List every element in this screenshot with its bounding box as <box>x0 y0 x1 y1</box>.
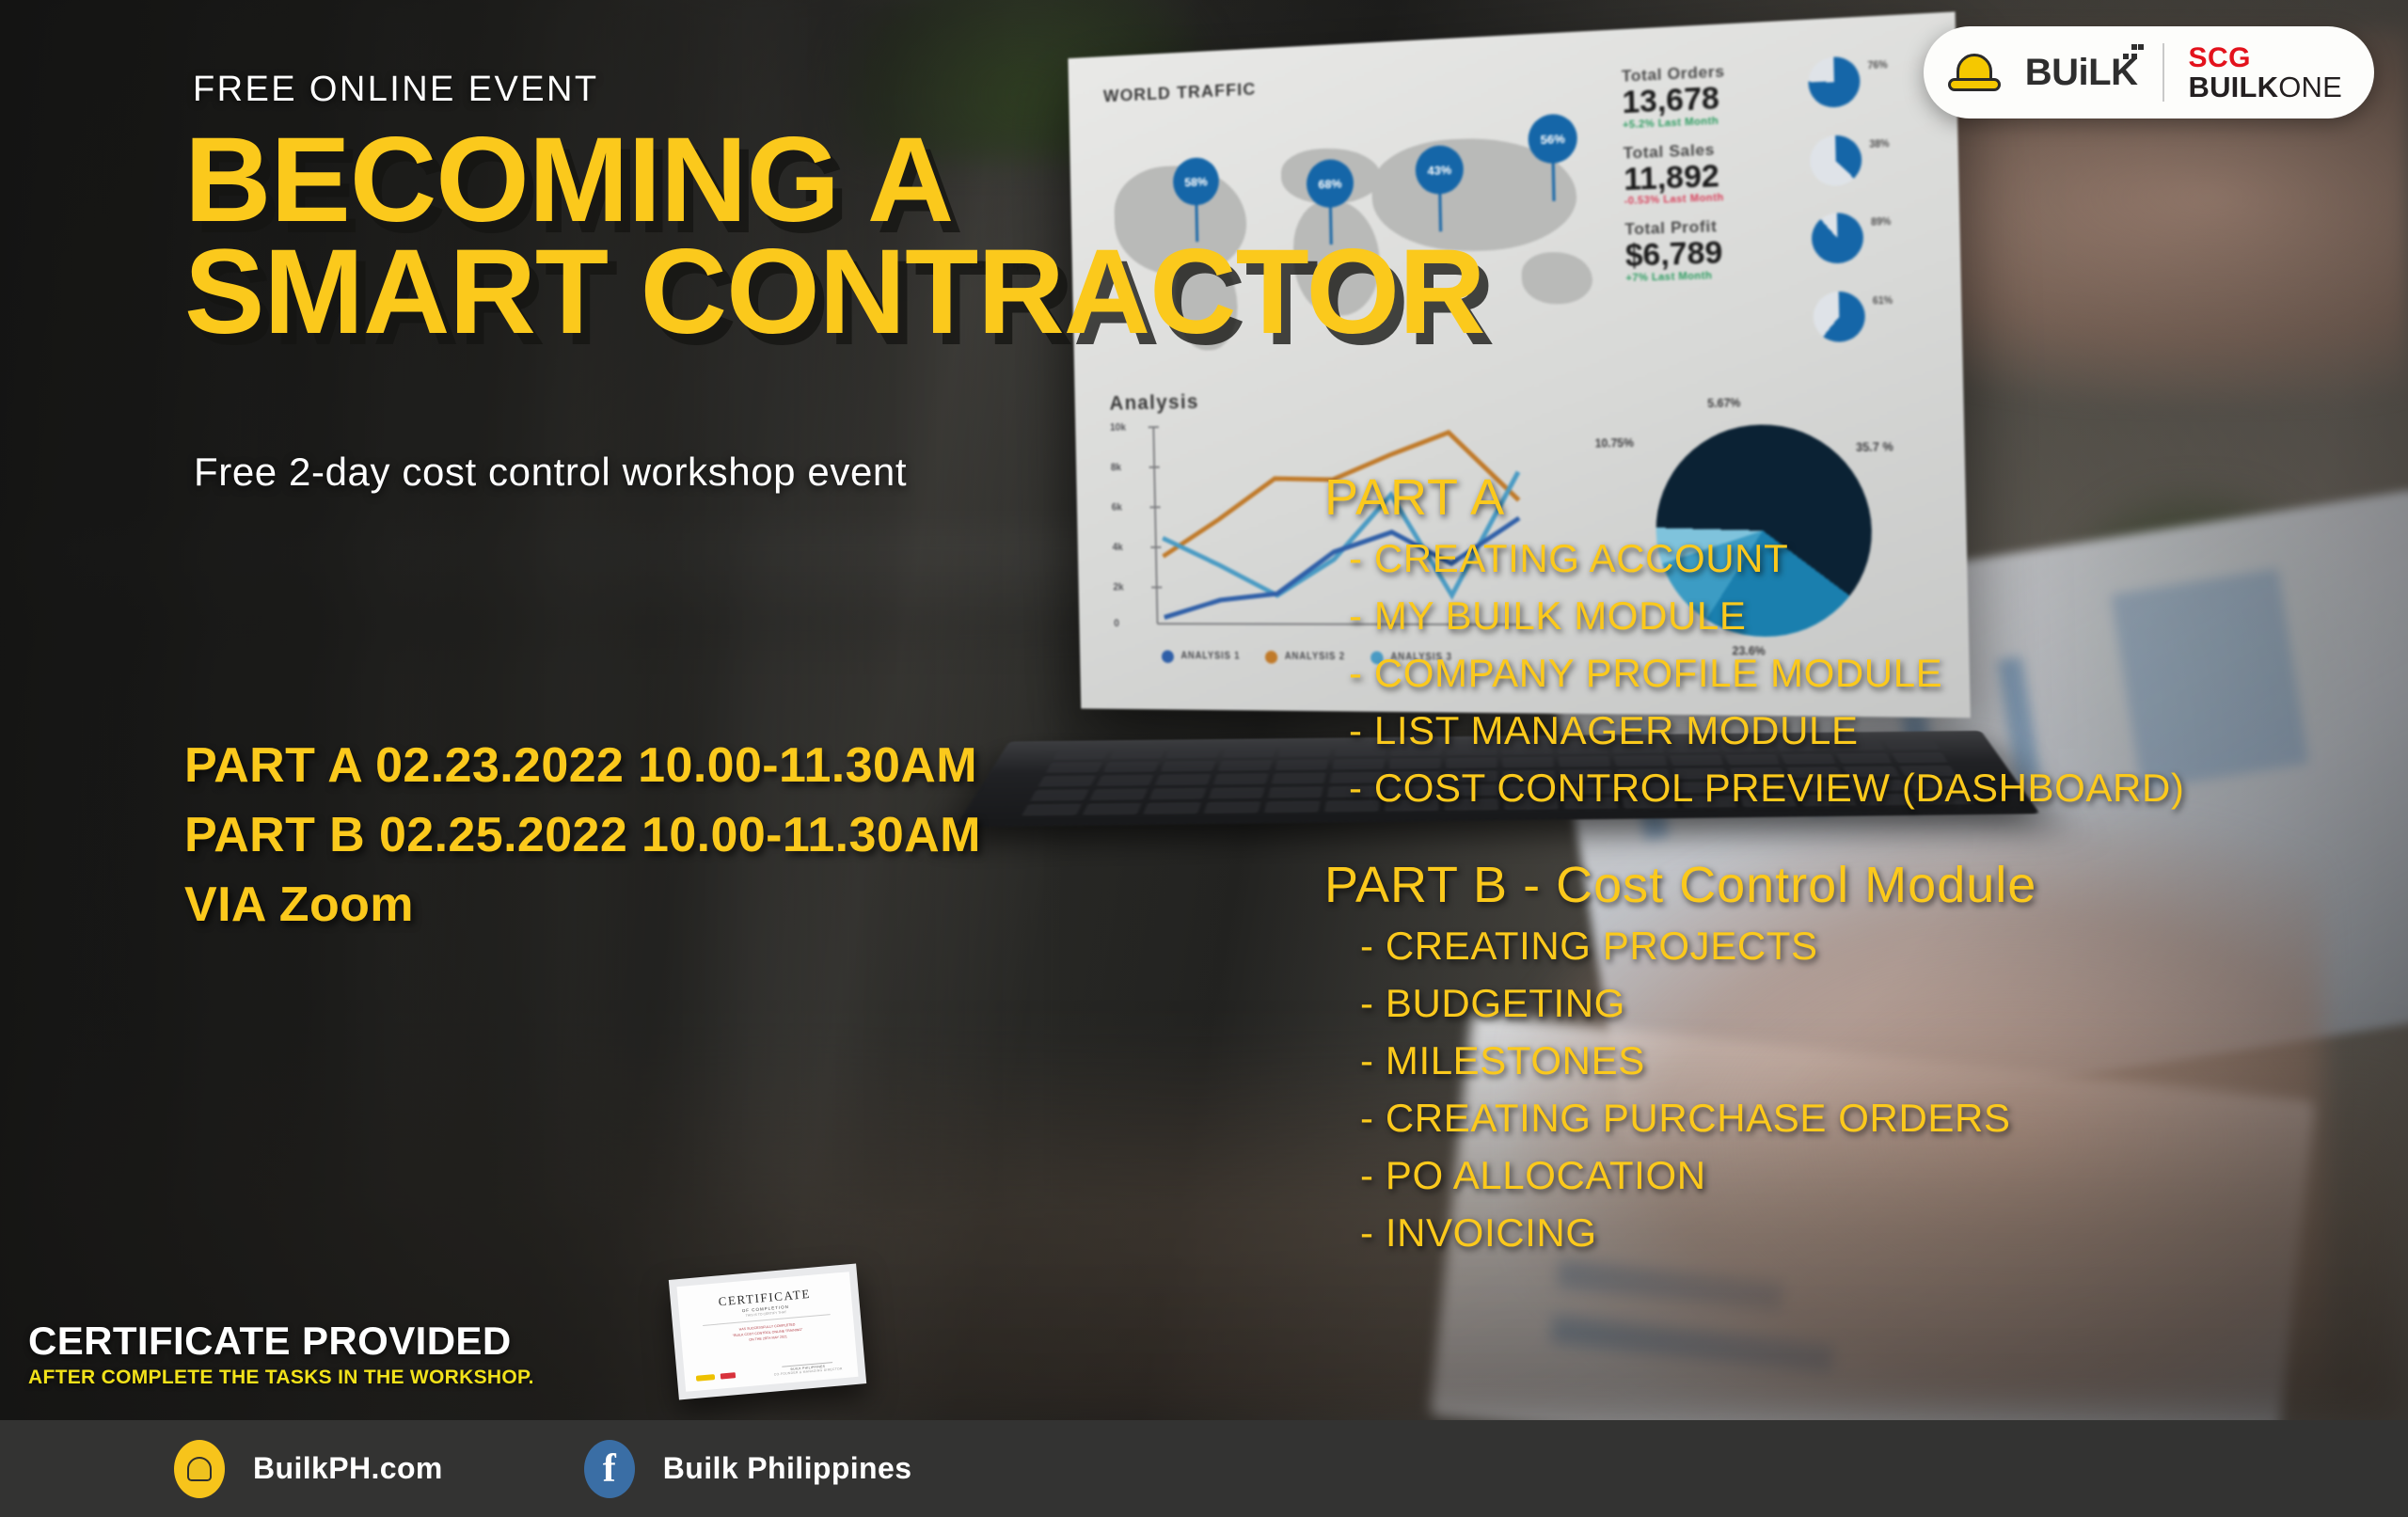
scg-label: SCG <box>2189 44 2343 72</box>
footer-facebook-label[interactable]: Builk Philippines <box>663 1451 912 1486</box>
agenda-item: - MY BUILK MODULE <box>1324 588 2397 645</box>
footer-website-item[interactable]: BuilkPH.com <box>174 1440 443 1498</box>
agenda-part-a-list: - CREATING ACCOUNT - MY BUILK MODULE - C… <box>1324 530 2397 816</box>
donut-percent: 76% <box>1867 55 1888 106</box>
donut-percent: 61% <box>1873 290 1893 340</box>
footer-facebook-item[interactable]: f Builk Philippines <box>584 1440 912 1498</box>
schedule-line-platform: VIA Zoom <box>184 871 981 940</box>
agenda-part-a: PART A - CREATING ACCOUNT - MY BUILK MOD… <box>1324 468 2397 816</box>
certificate-signature: BUILK PHILIPPINES CO-FOUNDER & MANAGING … <box>773 1361 843 1377</box>
certificate-provided-headline: CERTIFICATE PROVIDED <box>28 1319 534 1364</box>
certificate-provided-subline: AFTER COMPLETE THE TASKS IN THE WORKSHOP… <box>28 1367 534 1389</box>
agenda-part-b-list: - CREATING PROJECTS - BUDGETING - MILEST… <box>1324 918 2397 1261</box>
agenda-item: - MILESTONES <box>1324 1033 2397 1090</box>
agenda-part-a-heading: PART A <box>1324 468 2397 527</box>
footer-website-label[interactable]: BuilkPH.com <box>253 1451 443 1486</box>
title-line-2: SMART CONTRACTOR <box>184 236 1484 348</box>
kpi-text: Total Profit $6,789 +7% Last Month <box>1624 214 1791 284</box>
donut-chart <box>1813 291 1865 342</box>
world-traffic-title: WORLD TRAFFIC <box>1103 62 1612 107</box>
event-poster: WORLD TRAFFIC 58% 68% 43% 56% <box>0 0 2408 1517</box>
builk-hat-icon <box>174 1440 225 1498</box>
hard-hat-icon <box>1948 54 2001 91</box>
agenda-item: - PO ALLOCATION <box>1324 1147 2397 1205</box>
kpi-text: Total Orders 13,678 +5.2% Last Month <box>1622 59 1788 131</box>
kpi-value: $6,789 <box>1625 234 1791 273</box>
agenda-item: - COMPANY PROFILE MODULE <box>1324 645 2397 703</box>
builk-wordmark: BUiLK <box>2025 52 2138 94</box>
pie-label: 10.75% <box>1595 436 1635 450</box>
agenda-item: - CREATING PURCHASE ORDERS <box>1324 1090 2397 1147</box>
legend-item: ANALYSIS 1 <box>1162 650 1241 663</box>
agenda-item: - COST CONTROL PREVIEW (DASHBOARD) <box>1324 760 2397 817</box>
kpi-row: Total Sales 11,892 -0.53% Last Month 38% <box>1623 132 1918 208</box>
y-tick-label: 6k <box>1112 502 1123 514</box>
builkone-label: BUILKONE <box>2189 72 2343 102</box>
legend-label: ANALYSIS 1 <box>1180 652 1240 662</box>
page-title: BECOMING A SMART CONTRACTOR <box>184 124 1484 348</box>
kpi-row: Total Profit $6,789 +7% Last Month 89% <box>1624 211 1920 284</box>
agenda-item: - INVOICING <box>1324 1205 2397 1262</box>
subtitle-text: Free 2-day cost control workshop event <box>194 450 907 495</box>
legend-dot-icon <box>1162 650 1174 663</box>
donut-chart <box>1808 55 1861 108</box>
agenda-item: - BUDGETING <box>1324 975 2397 1033</box>
certificate-scg-logo-icon <box>721 1372 736 1379</box>
legend-dot-icon <box>1265 651 1278 664</box>
y-tick-label: 0 <box>1114 618 1119 629</box>
donut-chart <box>1810 134 1862 186</box>
footer-bar: BuilkPH.com f Builk Philippines <box>0 1420 2408 1517</box>
schedule-line-part-b: PART B 02.25.2022 10.00-11.30AM <box>184 801 981 871</box>
logo-divider <box>2162 43 2164 102</box>
certificate-inner: CERTIFICATE OF COMPLETION THIS IS TO CER… <box>676 1272 858 1392</box>
analysis-title: Analysis <box>1109 383 1552 416</box>
certificate-logos <box>696 1372 736 1382</box>
y-tick-label: 8k <box>1111 462 1122 473</box>
donut-percent: 38% <box>1869 133 1890 184</box>
pie-label: 5.67% <box>1707 396 1740 410</box>
map-pin: 56% <box>1528 113 1577 164</box>
kpi-panel: Total Orders 13,678 +5.2% Last Month 76%… <box>1622 47 1923 360</box>
certificate-mockup: CERTIFICATE OF COMPLETION THIS IS TO CER… <box>669 1264 866 1400</box>
y-tick-label: 10k <box>1110 422 1126 434</box>
builkone-bold: BUILK <box>2189 71 2279 103</box>
kpi-row: Total Orders 13,678 +5.2% Last Month 76% <box>1622 53 1917 131</box>
y-tick-label: 4k <box>1112 542 1123 553</box>
agenda-item: - CREATING ACCOUNT <box>1324 530 2397 588</box>
certificate-provided-block: CERTIFICATE PROVIDED AFTER COMPLETE THE … <box>28 1319 534 1389</box>
schedule-block: PART A 02.23.2022 10.00-11.30AM PART B 0… <box>184 732 981 940</box>
builkone-light: ONE <box>2278 71 2342 103</box>
brand-logo-badge: BUiLK SCG BUILKONE <box>1924 26 2374 119</box>
agenda-item: - LIST MANAGER MODULE <box>1324 703 2397 760</box>
agenda-part-b: PART B - Cost Control Module - CREATING … <box>1324 856 2397 1261</box>
kpi-text: Total Sales 11,892 -0.53% Last Month <box>1623 137 1789 208</box>
agenda-block: PART A - CREATING ACCOUNT - MY BUILK MOD… <box>1324 468 2397 1262</box>
agenda-item: - CREATING PROJECTS <box>1324 918 2397 975</box>
scg-builkone-lockup: SCG BUILKONE <box>2189 44 2343 102</box>
pie-label: 35.7 % <box>1856 440 1893 454</box>
title-line-1: BECOMING A <box>184 124 1484 236</box>
builk-dots-icon <box>2123 42 2144 61</box>
schedule-line-part-a: PART A 02.23.2022 10.00-11.30AM <box>184 732 981 801</box>
continent-australia <box>1521 251 1592 306</box>
certificate-builk-logo-icon <box>696 1374 715 1382</box>
facebook-icon: f <box>584 1440 635 1498</box>
agenda-part-b-heading: PART B - Cost Control Module <box>1324 856 2397 914</box>
kpi-row-extra: 61% <box>1626 289 1922 346</box>
donut-percent: 89% <box>1871 212 1892 263</box>
donut-chart <box>1812 213 1864 264</box>
eyebrow-text: FREE ONLINE EVENT <box>193 70 598 110</box>
y-tick-label: 2k <box>1113 582 1124 593</box>
